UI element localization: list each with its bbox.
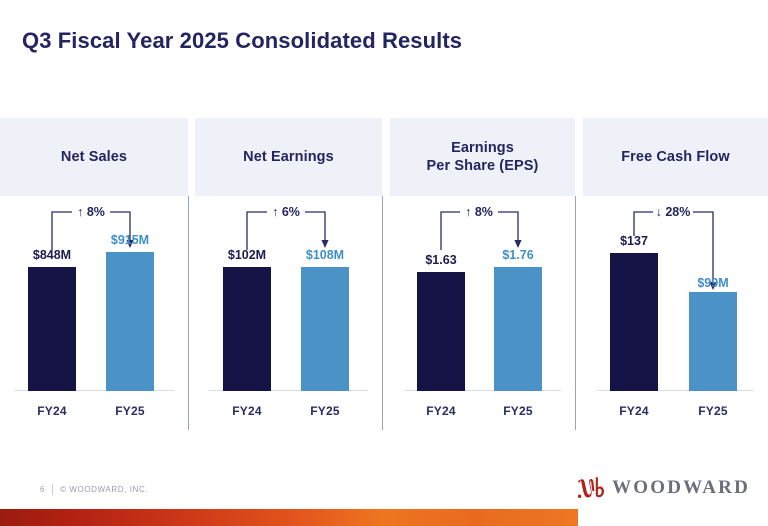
bar-value-label-fy25: $108M	[280, 248, 370, 262]
bar-fy25	[494, 267, 542, 391]
metric-header-label: Free Cash Flow	[621, 148, 730, 166]
bar-category-label-fy24: FY24	[7, 404, 97, 418]
metric-header-eps: Earnings Per Share (EPS)	[390, 118, 575, 196]
footer-divider	[52, 484, 53, 495]
bar-fy25	[106, 252, 154, 391]
bar-category-label-fy25: FY25	[473, 404, 563, 418]
change-label: ↑ 8%	[56, 205, 126, 219]
bar-fy25	[689, 292, 737, 391]
bar-value-label-fy25: $915M	[85, 233, 175, 247]
bar-category-label-fy25: FY25	[85, 404, 175, 418]
bar-fy25	[301, 267, 349, 391]
slide-root: Q3 Fiscal Year 2025 Consolidated Results…	[0, 0, 768, 526]
change-label: ↑ 8%	[444, 205, 514, 219]
panel-divider	[382, 196, 383, 430]
copyright-text: © WOODWARD, INC.	[60, 485, 148, 494]
bar-fy24	[223, 267, 271, 391]
woodward-logo: WOODWARD	[578, 473, 750, 503]
metric-header-label-line1: Earnings	[451, 140, 514, 156]
page-title: Q3 Fiscal Year 2025 Consolidated Results	[22, 28, 462, 54]
panel-divider	[188, 196, 189, 430]
chart-panel-net-earnings: ↑ 6% $102M $108M FY24 FY25	[195, 196, 382, 430]
brand-gradient-bar	[0, 509, 578, 526]
metric-header-net-earnings: Net Earnings	[195, 118, 382, 196]
bar-value-label-fy24: $102M	[202, 248, 292, 262]
bar-category-label-fy24: FY24	[589, 404, 679, 418]
chart-panels: ↑ 8% $848M $915M FY24 FY25 ↑ 6% $102M $1…	[0, 196, 768, 430]
metric-header-label-line2: Per Share (EPS)	[427, 158, 539, 174]
chart-panel-eps: ↑ 8% $1.63 $1.76 FY24 FY25	[390, 196, 575, 430]
bar-category-label-fy24: FY24	[202, 404, 292, 418]
panel-divider	[575, 196, 576, 430]
metric-header-label: Net Earnings	[243, 148, 334, 166]
metric-header-free-cash-flow: Free Cash Flow	[583, 118, 768, 196]
metric-header-label: Net Sales	[61, 148, 127, 166]
metric-header-net-sales: Net Sales	[0, 118, 188, 196]
metric-header-label-multiline: Earnings Per Share (EPS)	[427, 139, 539, 175]
bar-fy24	[28, 267, 76, 391]
bar-fy24	[610, 253, 658, 391]
bar-category-label-fy25: FY25	[280, 404, 370, 418]
chart-panel-net-sales: ↑ 8% $848M $915M FY24 FY25	[0, 196, 188, 430]
bar-fy24	[417, 272, 465, 391]
chart-panel-free-cash-flow: ↓ 28% $137 $99M FY24 FY25	[583, 196, 768, 430]
woodward-wordmark: WOODWARD	[612, 477, 750, 499]
bar-value-label-fy24: $848M	[7, 248, 97, 262]
woodward-mark-icon	[578, 476, 605, 501]
footer: 6 © WOODWARD, INC.	[40, 484, 148, 495]
change-label: ↓ 28%	[638, 205, 708, 219]
change-label: ↑ 6%	[251, 205, 321, 219]
metric-headers: Net Sales Net Earnings Earnings Per Shar…	[0, 118, 768, 196]
bar-value-label-fy24: $137	[589, 234, 679, 248]
bar-category-label-fy25: FY25	[668, 404, 758, 418]
bar-value-label-fy25: $99M	[668, 276, 758, 290]
page-number: 6	[40, 485, 45, 494]
bar-value-label-fy25: $1.76	[473, 248, 563, 262]
